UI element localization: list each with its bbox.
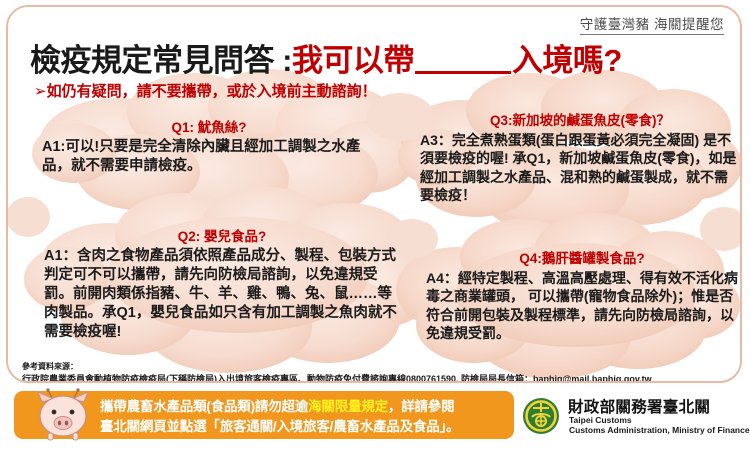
source-label: 參考資料來源： [22, 361, 652, 373]
qa-block-q1: Q1: 魷魚絲? A1:可以!只要是完全清除內臟且經加工調製之水產品，就不需要申… [42, 120, 376, 176]
poster-frame: 守護臺灣豬 海關提醒您 檢疫規定常見問答 :我可以帶入境嗎? ➢如仍有疑問，請不… [6, 5, 742, 383]
qa-question-q1: Q1: 魷魚絲? [42, 120, 376, 137]
notice-banner-text: 攜帶農畜水產品類(食品類)請勿超逾海關限量規定，詳請參閱 臺北關網頁並點選「旅客… [100, 397, 504, 436]
qa-answer-q1: A1:可以!只要是完全清除內臟且經加工調製之水產品，就不需要申請檢疫。 [42, 138, 376, 176]
page-title: 檢疫規定常見問答 :我可以帶入境嗎? [30, 35, 622, 80]
notice-banner: 攜帶農畜水產品類(食品類)請勿超逾海關限量規定，詳請參閱 臺北關網頁並點選「旅客… [14, 391, 514, 439]
source-body: 行政院農業委員會動植物防疫檢疫局(下稱防檢局)入出境旅客檢疫專區、動物防疫免付費… [22, 373, 652, 383]
customs-name-en-1: Taipei Customs [569, 415, 632, 425]
qa-answer-q4: A4：經特定製程、高溫高壓處理、得有效不活化病毒之商業罐頭， 可以攜帶(寵物食品… [426, 269, 738, 343]
customs-logo-block: 財政部關務署臺北關 Taipei Customs Customs Adminis… [522, 393, 748, 441]
notice-line1-part-b: ，詳請參閱 [388, 399, 455, 414]
qa-block-q2: Q2: 嬰兒食品? A1：含肉之食物產品須依照產品成分、製程、包裝方式判定可不可… [44, 229, 400, 343]
notice-line2: 臺北關網頁並點選「旅客通關/入境旅客/農畜水產品及食品」。 [100, 419, 459, 434]
customs-name-cn: 財政部關務署臺北關 [568, 395, 710, 417]
source-reference: 參考資料來源： 行政院農業委員會動植物防疫檢疫局(下稱防檢局)入出境旅客檢疫專區… [22, 361, 652, 383]
notice-line1-highlight: 海關限量規定 [308, 399, 388, 414]
title-red-part-2: 入境嗎? [512, 43, 622, 78]
title-blank-line [415, 71, 511, 74]
poster-root: 守護臺灣豬 海關提醒您 檢疫規定常見問答 :我可以帶入境嗎? ➢如仍有疑問，請不… [0, 0, 750, 449]
title-black-part: 檢疫規定常見問答 : [30, 43, 292, 78]
pig-mascot-icon [28, 388, 98, 442]
qa-question-q4: Q4:鵝肝醬罐製食品? [426, 251, 738, 268]
header-note: 守護臺灣豬 海關提醒您 [580, 13, 724, 35]
customs-name-en-2: Customs Administration, Ministry of Fina… [569, 425, 750, 435]
page-subtitle: ➢如仍有疑問，請不要攜帶，或於入境前主動諮詢！ [34, 80, 377, 101]
qa-block-q4: Q4:鵝肝醬罐製食品? A4：經特定製程、高溫高壓處理、得有效不活化病毒之商業罐… [426, 251, 738, 343]
qa-question-q2: Q2: 嬰兒食品? [44, 229, 400, 246]
qa-block-q3: Q3:新加坡的鹹蛋魚皮(零食)？ A3：完全煮熟蛋類(蛋白跟蛋黃必須完全凝固) … [420, 113, 740, 205]
notice-line1-part-a: 攜帶農畜水產品類(食品類)請勿超逾 [100, 399, 308, 414]
qa-answer-q3: A3：完全煮熟蛋類(蛋白跟蛋黃必須完全凝固) 是不須要檢疫的喔! 承Q1，新加坡… [420, 131, 740, 205]
qa-answer-q2: A1：含肉之食物產品須依照產品成分、製程、包裝方式判定可不可以攜帶，請先向防檢局… [44, 247, 400, 343]
title-red-part-1: 我可以帶 [292, 43, 414, 78]
customs-emblem-icon [522, 397, 560, 435]
qa-question-q3: Q3:新加坡的鹹蛋魚皮(零食)？ [420, 113, 740, 130]
